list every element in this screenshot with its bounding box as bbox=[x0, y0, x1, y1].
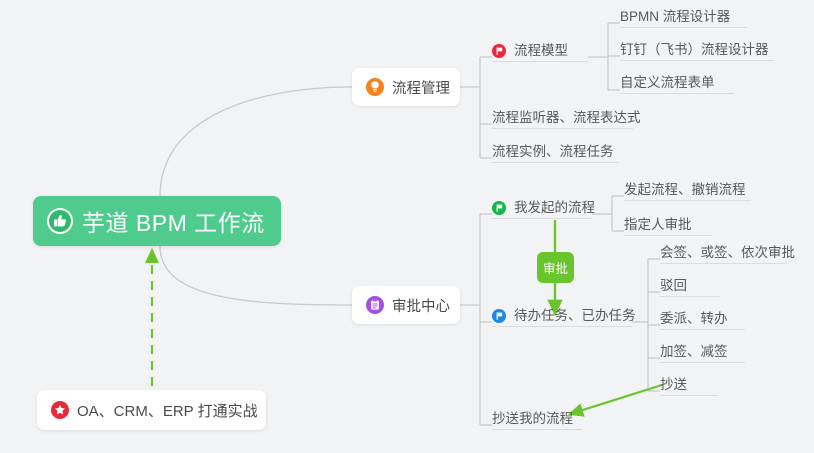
node-label-delegate-transfer: 委派、转办 bbox=[660, 312, 728, 326]
node-label-custom-process-form: 自定义流程表单 bbox=[620, 76, 715, 90]
branch-node-process-management[interactable]: 流程管理 bbox=[352, 68, 460, 106]
node-label-reject: 驳回 bbox=[660, 279, 687, 293]
node-label-start-cancel-process: 发起流程、撤销流程 bbox=[624, 183, 746, 197]
node-process-model[interactable]: 流程模型 bbox=[492, 44, 588, 62]
root-node[interactable]: 芋道 BPM 工作流 bbox=[33, 196, 281, 246]
node-label-bpmn-designer: BPMN 流程设计器 bbox=[620, 10, 730, 24]
node-add-remove-sign[interactable]: 加签、减签 bbox=[660, 345, 745, 363]
node-label-assigned-approver: 指定人审批 bbox=[624, 218, 692, 232]
node-dingtalk-feishu-designer[interactable]: 钉钉（飞书）流程设计器 bbox=[620, 43, 774, 61]
node-process-listener-expression[interactable]: 流程监听器、流程表达式 bbox=[492, 111, 633, 129]
node-label-process-model: 流程模型 bbox=[514, 44, 568, 58]
lightbulb-icon bbox=[366, 78, 384, 96]
star-icon bbox=[51, 401, 69, 419]
branch-node-approval-center[interactable]: 审批中心 bbox=[352, 286, 460, 324]
node-bpmn-designer[interactable]: BPMN 流程设计器 bbox=[620, 10, 747, 28]
node-label-dingtalk-feishu-designer: 钉钉（飞书）流程设计器 bbox=[620, 43, 769, 57]
footer-label-integration: OA、CRM、ERP 打通实战 bbox=[77, 400, 258, 421]
node-label-todo-done-tasks: 待办任务、已办任务 bbox=[514, 309, 636, 323]
node-label-my-initiated: 我发起的流程 bbox=[514, 201, 595, 215]
root-label: 芋道 BPM 工作流 bbox=[82, 204, 265, 238]
flag-icon bbox=[492, 44, 506, 58]
node-label-process-listener-expression: 流程监听器、流程表达式 bbox=[492, 111, 641, 125]
node-label-countersign-modes: 会签、或签、依次审批 bbox=[660, 246, 795, 260]
node-label-carbon-copy: 抄送 bbox=[660, 378, 687, 392]
node-label-cc-to-me: 抄送我的流程 bbox=[492, 412, 573, 426]
clipboard-icon bbox=[366, 296, 384, 314]
node-start-cancel-process[interactable]: 发起流程、撤销流程 bbox=[624, 183, 751, 201]
thumbs-up-icon bbox=[47, 208, 73, 234]
footer-node-integration[interactable]: OA、CRM、ERP 打通实战 bbox=[37, 390, 266, 430]
branch-label-process-management: 流程管理 bbox=[392, 77, 450, 98]
node-my-initiated[interactable]: 我发起的流程 bbox=[492, 201, 592, 219]
node-delegate-transfer[interactable]: 委派、转办 bbox=[660, 312, 745, 330]
node-countersign-modes[interactable]: 会签、或签、依次审批 bbox=[660, 246, 787, 264]
approval-flow-badge[interactable]: 审批 bbox=[537, 252, 574, 283]
flag-icon bbox=[492, 201, 506, 215]
approval-flow-badge-label: 审批 bbox=[543, 258, 568, 277]
flag-icon bbox=[492, 309, 506, 323]
branch-label-approval-center: 审批中心 bbox=[392, 295, 450, 316]
node-custom-process-form[interactable]: 自定义流程表单 bbox=[620, 76, 734, 94]
node-process-instance-task[interactable]: 流程实例、流程任务 bbox=[492, 145, 619, 163]
mindmap-canvas: 芋道 BPM 工作流 流程管理 流程模型 BPMN 流程设计器 钉钉（飞书 bbox=[0, 0, 814, 453]
node-reject[interactable]: 驳回 bbox=[660, 279, 720, 297]
node-carbon-copy[interactable]: 抄送 bbox=[660, 378, 718, 396]
node-assigned-approver[interactable]: 指定人审批 bbox=[624, 218, 712, 236]
node-todo-done-tasks[interactable]: 待办任务、已办任务 bbox=[492, 309, 632, 327]
node-cc-to-me[interactable]: 抄送我的流程 bbox=[492, 412, 582, 430]
node-label-add-remove-sign: 加签、减签 bbox=[660, 345, 728, 359]
node-label-process-instance-task: 流程实例、流程任务 bbox=[492, 145, 614, 159]
